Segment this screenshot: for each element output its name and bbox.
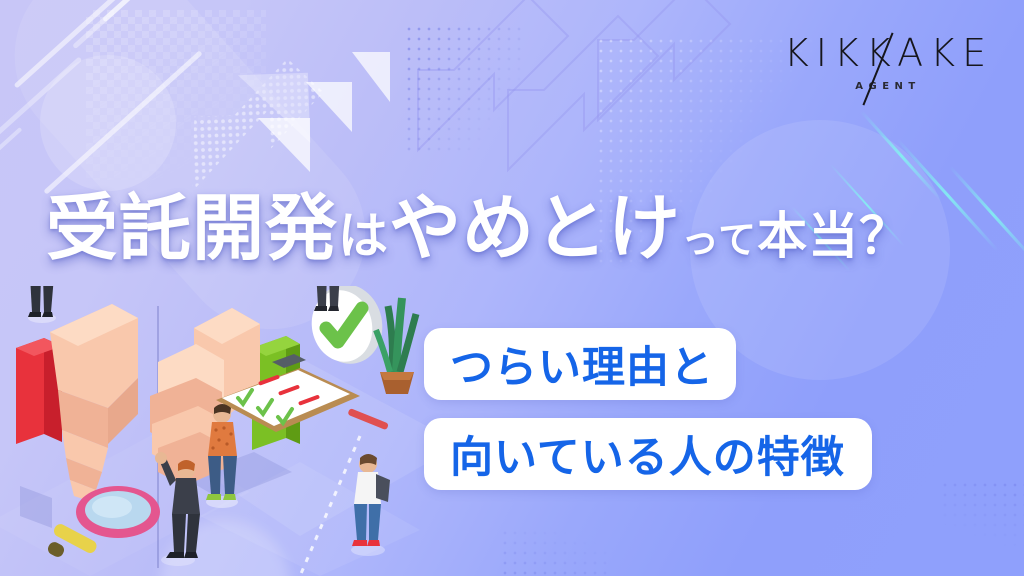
dot-grid-decor [940,480,1024,550]
diagonal-streak-decor [0,127,22,177]
diagonal-streak-decor [14,0,129,89]
diagonal-streak-decor [102,0,150,22]
banner-canvas: KIKKAKE AGENT 受託開発はやめとけって本当？ つらい理由と 向いてい… [0,0,1024,576]
headline-segment: やめとけ [389,192,681,264]
diagonal-streak-decor [0,56,82,140]
dot-grid-decor [404,24,524,152]
subtitle-pill-1-label: つらい理由と [450,333,714,395]
headline-segment: 本当？ [757,211,910,261]
cyan-streak-decor [860,110,943,201]
subtitle-pill-1: つらい理由と [424,328,736,400]
cyan-streak-decor [949,166,1024,265]
subtitle-pill-2: 向いている人の特徴 [424,418,872,490]
checker-pattern-decor [86,10,266,180]
person-businessman-icon [28,286,56,323]
potted-plant-icon [376,298,416,394]
headline-segment: って [681,221,757,259]
isometric-illustration [0,286,460,576]
dot-grid-decor [500,528,610,576]
diagonal-streak-decor [43,50,202,194]
illustration-group [0,286,460,576]
headline-segment: 受託開発 [46,192,338,264]
brand-logo[interactable]: KIKKAKE AGENT [776,34,994,106]
page-title: 受託開発はやめとけって本当？ [46,192,910,264]
subtitle-pill-2-label: 向いている人の特徴 [450,423,845,485]
chevron-outline-decor [408,0,738,210]
triangle-cluster-decor [256,48,416,178]
headline-segment: は [338,211,389,261]
cyan-streak-decor [896,138,999,251]
diagonal-streak-decor [72,0,144,49]
circle-decor-top-left [40,55,176,191]
logo-subtitle: AGENT [776,81,994,92]
